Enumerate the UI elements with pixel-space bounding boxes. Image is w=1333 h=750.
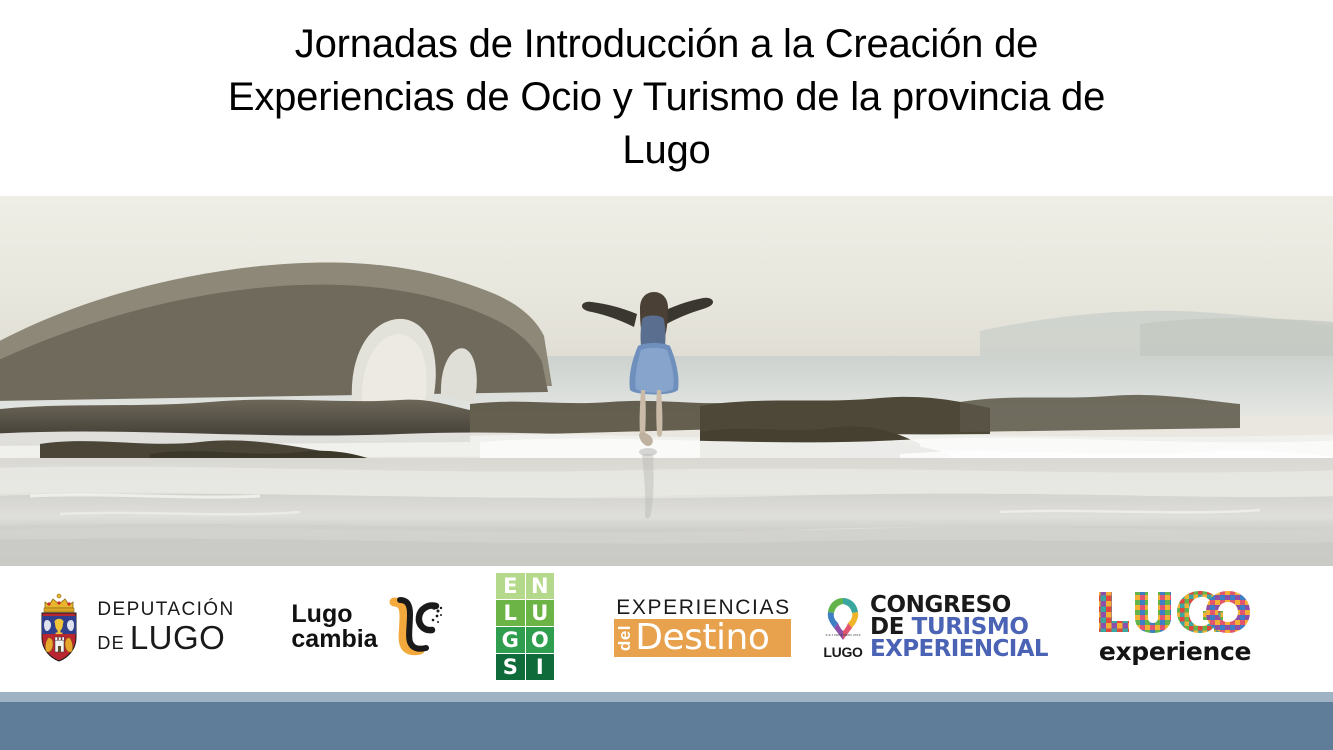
logo-experiencias-del-destino[interactable]: EXPERIENCIAS del Destino xyxy=(585,566,820,688)
en-lugo-si-letter: N xyxy=(526,573,555,599)
lugo-colorful-wordmark-icon xyxy=(1095,590,1255,634)
sponsor-logo-strip: DEPUTACIÓN DE LUGO Lugo cambia xyxy=(0,566,1333,688)
en-lugo-si-stack: E N L U G O S I xyxy=(496,573,554,681)
en-lugo-si-letter: G xyxy=(496,627,525,653)
logo-congreso-turismo-experiencial[interactable]: 5-6-7 NOVEMBRO 2019 LUGO CONGRESO DE TUR… xyxy=(820,566,1050,688)
en-lugo-si-row-2: L U xyxy=(496,600,554,626)
page-title: Jornadas de Introducción a la Creación d… xyxy=(60,18,1273,177)
en-lugo-si-letter: L xyxy=(496,600,525,626)
title-line-1: Jornadas de Introducción a la Creación d… xyxy=(60,18,1273,71)
del-word: del xyxy=(616,625,633,651)
lugo-cambia-line1: Lugo xyxy=(291,602,377,628)
logo-en-lugo-si[interactable]: E N L U G O S I xyxy=(465,566,585,688)
lugo-cambia-line2: cambia xyxy=(291,627,377,653)
lugo-cambia-mark-icon xyxy=(382,594,444,660)
hero-beach-photo xyxy=(0,196,1333,566)
en-lugo-si-letter: S xyxy=(496,654,525,680)
congreso-pin-label: LUGO xyxy=(823,645,862,659)
experiencias-word: EXPERIENCIAS xyxy=(616,597,790,618)
logo-lugo-cambia[interactable]: Lugo cambia xyxy=(270,566,465,688)
congreso-line3: EXPERIENCIAL xyxy=(870,638,1048,660)
title-line-2: Experiencias de Ocio y Turismo de la pro… xyxy=(60,71,1273,124)
en-lugo-si-row-3: G O xyxy=(496,627,554,653)
footer-accent-strip xyxy=(0,692,1333,702)
en-lugo-si-letter: O xyxy=(526,627,555,653)
presentation-slide: Jornadas de Introducción a la Creación d… xyxy=(0,0,1333,750)
en-lugo-si-letter: I xyxy=(526,654,555,680)
svg-text:5-6-7 NOVEMBRO 2019: 5-6-7 NOVEMBRO 2019 xyxy=(826,633,861,637)
en-lugo-si-letter: E xyxy=(496,573,525,599)
footer-bar xyxy=(0,702,1333,750)
deputacion-line1: DEPUTACIÓN xyxy=(97,600,234,619)
en-lugo-si-letter: U xyxy=(526,600,555,626)
logo-lugo-experience[interactable]: experience xyxy=(1050,566,1300,688)
en-lugo-si-row-1: E N xyxy=(496,573,554,599)
congreso-line1: CONGRESO xyxy=(870,594,1048,616)
deputacion-de: DE xyxy=(97,634,124,652)
destino-orange-bar: del Destino xyxy=(614,619,790,657)
logo-deputacion-de-lugo[interactable]: DEPUTACIÓN DE LUGO xyxy=(0,566,270,688)
en-lugo-si-row-4: S I xyxy=(496,654,554,680)
lugo-coat-of-arms-icon xyxy=(35,592,83,662)
deputacion-lugo: LUGO xyxy=(130,621,226,654)
destino-word: Destino xyxy=(635,620,769,656)
beach-illustration xyxy=(0,196,1333,566)
title-line-3: Lugo xyxy=(60,124,1273,177)
lugo-experience-subtitle: experience xyxy=(1095,639,1255,664)
location-pin-icon: 5-6-7 NOVEMBRO 2019 xyxy=(822,595,864,645)
